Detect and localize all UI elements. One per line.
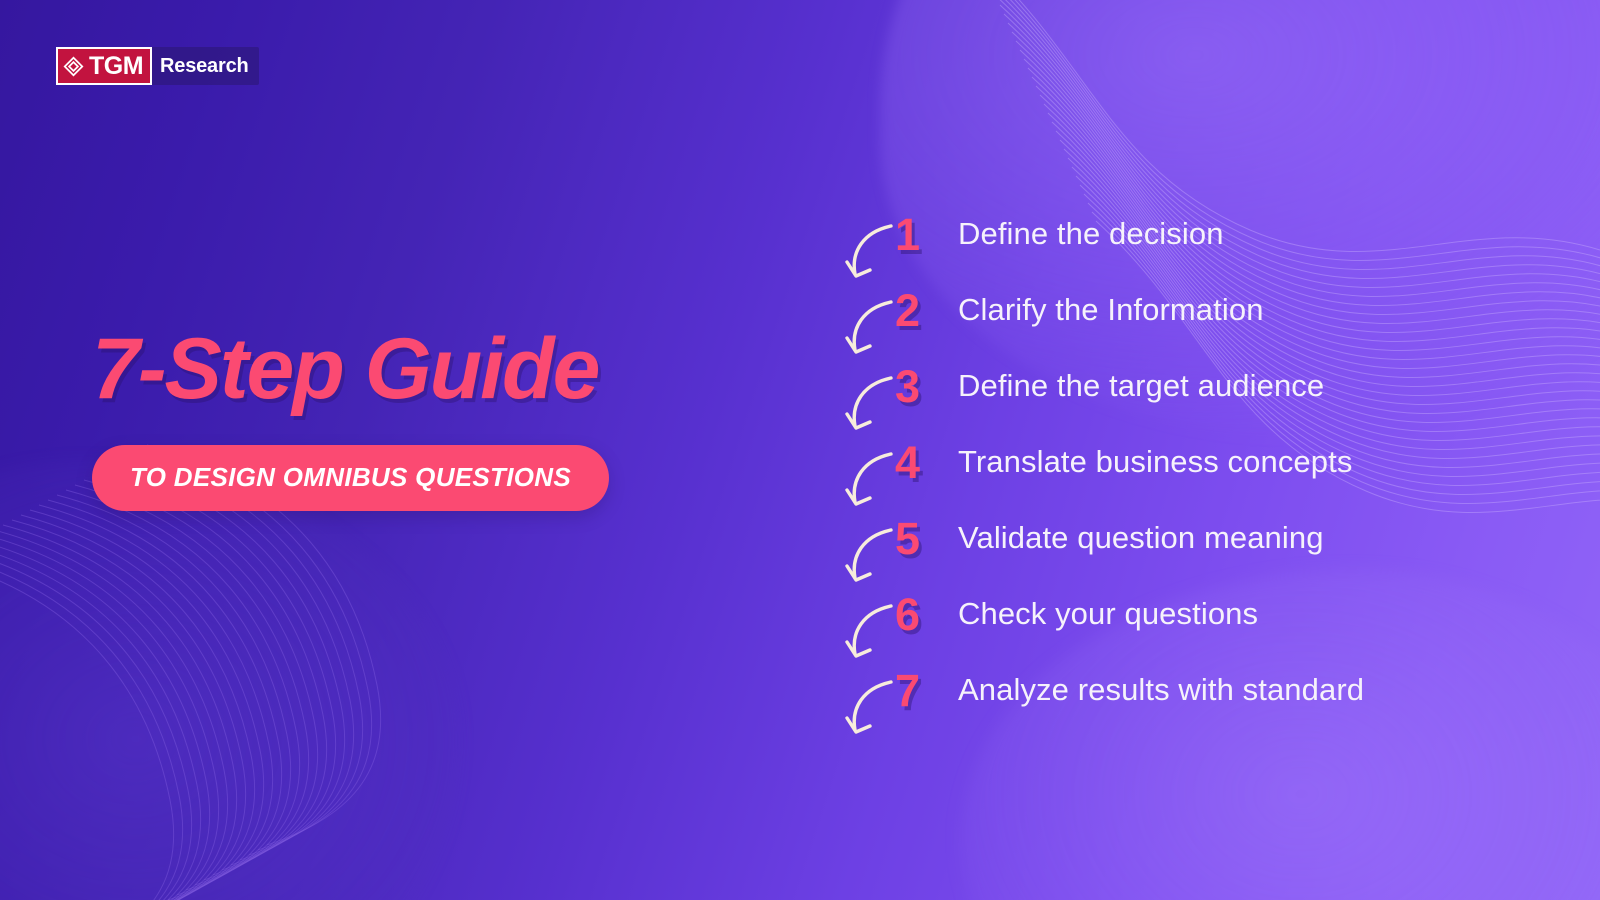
list-item[interactable]: 5 Validate question meaning bbox=[845, 500, 1545, 576]
step-label: Analyze results with standard bbox=[958, 672, 1364, 708]
logo-tgm-text: TGM bbox=[89, 54, 143, 79]
list-item[interactable]: 2 Clarify the Information bbox=[845, 272, 1545, 348]
list-item[interactable]: 3 Define the target audience bbox=[845, 348, 1545, 424]
blob-bottom-left bbox=[0, 460, 460, 900]
list-item[interactable]: 6 Check your questions bbox=[845, 576, 1545, 652]
step-number: 4 bbox=[895, 440, 943, 485]
step-number: 7 bbox=[895, 668, 943, 713]
wave-lines-bottom-left bbox=[0, 445, 381, 900]
step-number: 1 bbox=[895, 212, 943, 257]
diamond-icon bbox=[63, 56, 84, 77]
step-number: 6 bbox=[895, 592, 943, 637]
page-title: 7-Step Guide bbox=[92, 326, 792, 412]
step-label: Define the target audience bbox=[958, 368, 1324, 404]
list-item[interactable]: 4 Translate business concepts bbox=[845, 424, 1545, 500]
headline-block: 7-Step Guide TO DESIGN OMNIBUS QUESTIONS bbox=[92, 326, 792, 511]
infographic-canvas: TGM Research 7-Step Guide TO DESIGN OMNI… bbox=[0, 0, 1600, 900]
step-label: Clarify the Information bbox=[958, 292, 1264, 328]
steps-list: 1 Define the decision 2 Clarify the Info… bbox=[845, 196, 1545, 728]
step-number: 5 bbox=[895, 516, 943, 561]
step-number: 2 bbox=[895, 288, 943, 333]
step-label: Validate question meaning bbox=[958, 520, 1324, 556]
tgm-research-logo[interactable]: TGM Research bbox=[56, 47, 259, 85]
step-number: 3 bbox=[895, 364, 943, 409]
logo-mark: TGM bbox=[56, 47, 152, 85]
step-label: Check your questions bbox=[958, 596, 1258, 632]
step-label: Translate business concepts bbox=[958, 444, 1352, 480]
list-item[interactable]: 1 Define the decision bbox=[845, 196, 1545, 272]
subtitle-pill: TO DESIGN OMNIBUS QUESTIONS bbox=[92, 445, 609, 511]
logo-research-text: Research bbox=[152, 47, 248, 85]
list-item[interactable]: 7 Analyze results with standard bbox=[845, 652, 1545, 728]
step-label: Define the decision bbox=[958, 216, 1224, 252]
